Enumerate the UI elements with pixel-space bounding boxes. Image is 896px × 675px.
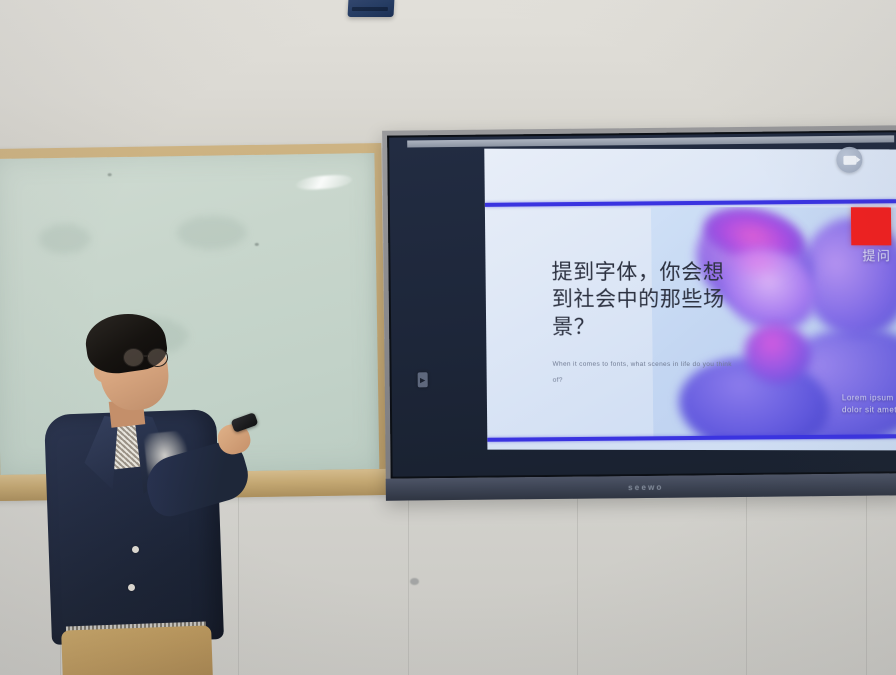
wall-mark [410,578,419,585]
display-bezel: ▶ [387,130,896,478]
jacket-button [128,584,135,591]
display-brand-label: seewo [628,482,664,491]
eyeglasses-icon [123,348,171,367]
interactive-display[interactable]: ▶ [382,125,896,500]
slide-lorem-text: Lorem ipsum dolor sit amet [842,392,896,416]
presenter [28,300,273,675]
camera-icon [836,147,862,173]
jacket-button [132,546,139,553]
slide-subtitle: When it comes to fonts, what scenes in l… [552,357,734,390]
display-panel[interactable]: ▶ [389,132,896,476]
panel-top-strip [407,135,894,147]
slide-accent-bottom [487,434,896,442]
slide-lorem-line2: dolor sit amet [842,404,896,416]
slide-ask-label: 提问 [862,245,891,264]
slide-heading: 提到字体，你会想到社会中的那些场景？ [551,259,730,341]
display-side-button[interactable]: ▶ [418,372,428,387]
wall-speaker-icon [348,0,395,17]
slide-accent-top [485,199,896,207]
slide-red-marker [851,207,891,245]
presentation-slide[interactable]: 提问 提到字体，你会想到社会中的那些场景？ When it comes to f… [484,149,896,451]
classroom-scene: ▶ [0,0,896,675]
slide-lorem-line1: Lorem ipsum [842,392,896,404]
presenter-pants [61,625,213,675]
chalkboard-glare [294,174,354,191]
